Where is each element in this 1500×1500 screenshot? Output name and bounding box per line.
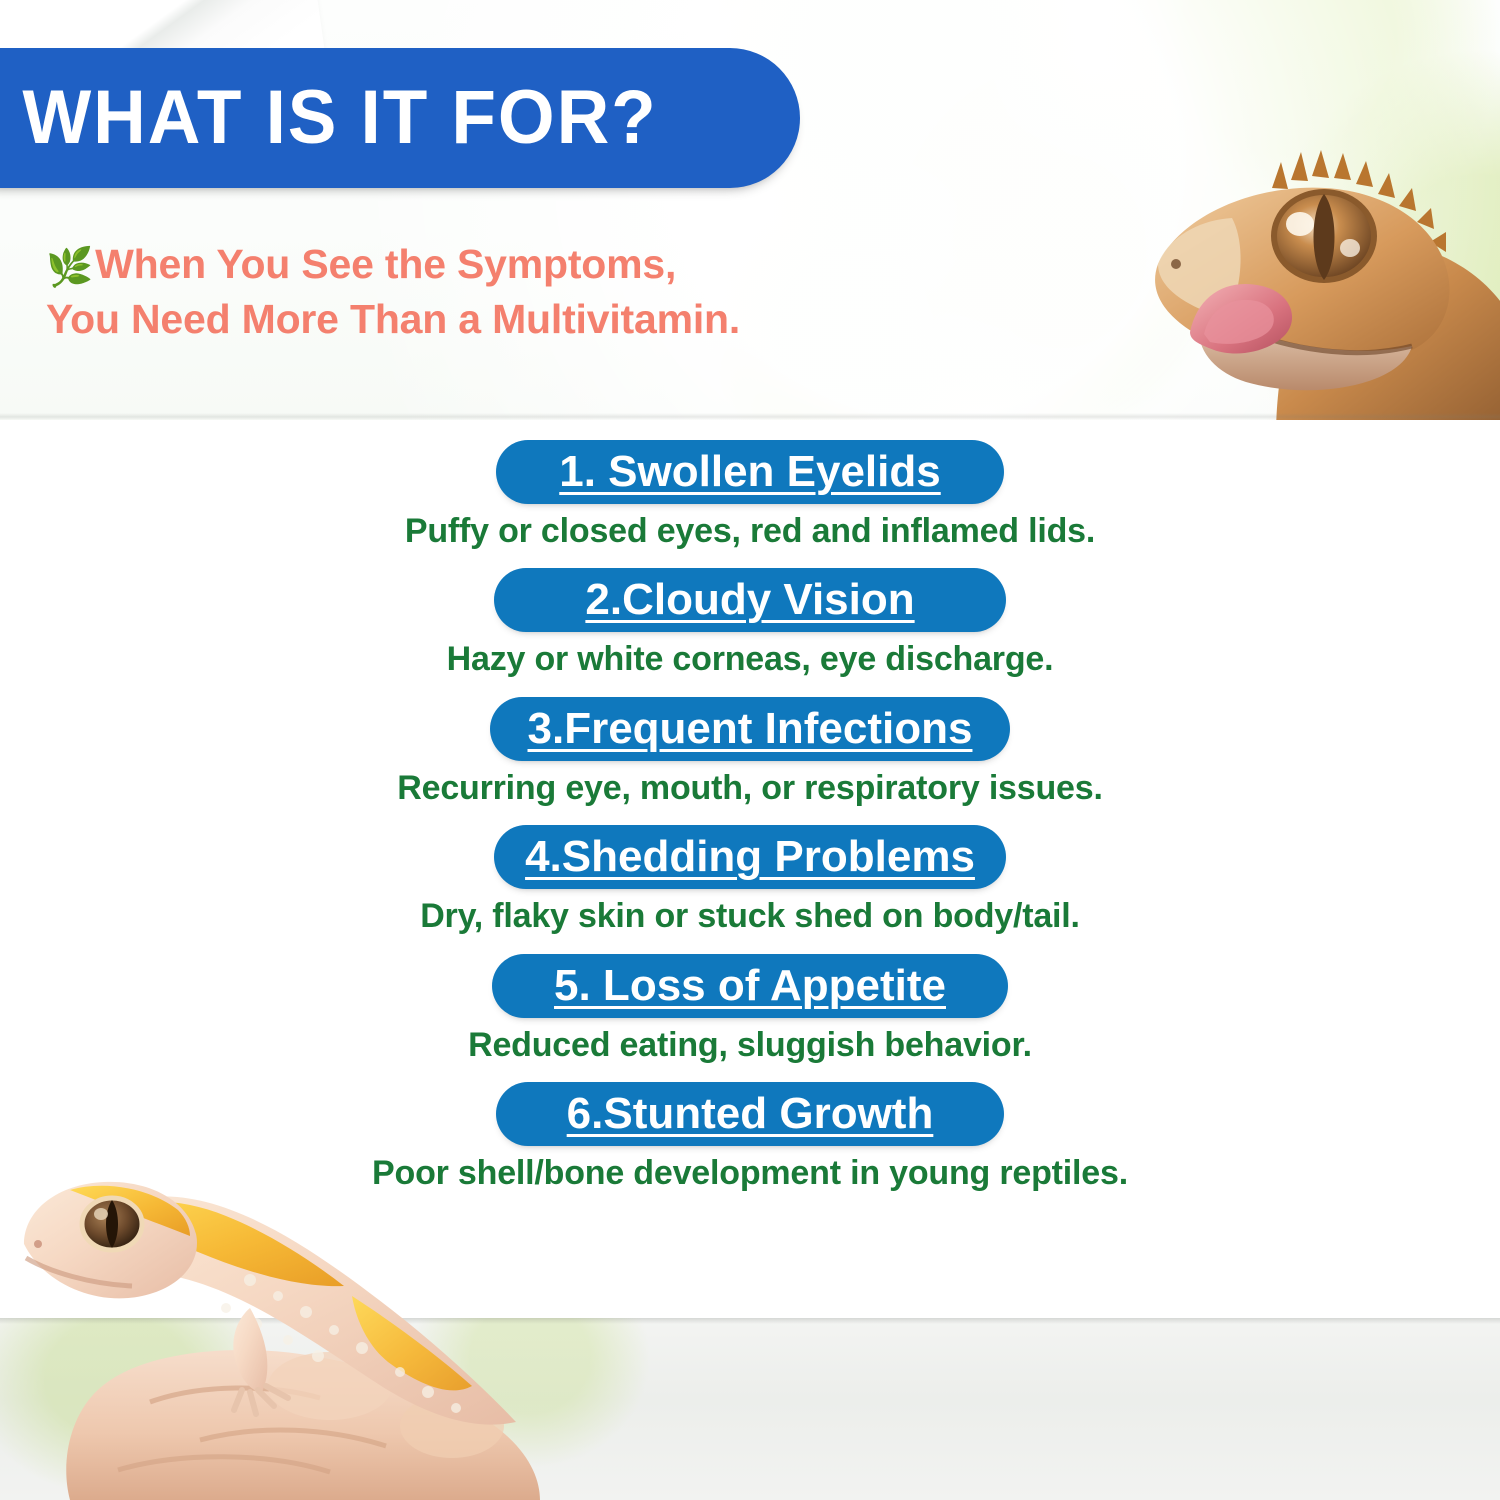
- symptom-item: 4.Shedding Problems Dry, flaky skin or s…: [0, 825, 1500, 935]
- symptom-description-3: Recurring eye, mouth, or respiratory iss…: [0, 770, 1500, 807]
- symptom-description-2: Hazy or white corneas, eye discharge.: [0, 641, 1500, 678]
- subtitle-line-1: When You See the Symptoms,: [95, 241, 676, 287]
- symptom-item: 5. Loss of Appetite Reduced eating, slug…: [0, 954, 1500, 1064]
- symptom-pill-5[interactable]: 5. Loss of Appetite: [492, 954, 1008, 1018]
- symptom-pill-1[interactable]: 1. Swollen Eyelids: [496, 440, 1004, 504]
- symptom-title-3: 3.Frequent Infections: [494, 707, 1007, 751]
- symptom-item: 3.Frequent Infections Recurring eye, mou…: [0, 697, 1500, 807]
- symptom-description-4: Dry, flaky skin or stuck shed on body/ta…: [0, 898, 1500, 935]
- symptom-pill-2[interactable]: 2.Cloudy Vision: [494, 568, 1006, 632]
- symptom-title-4: 4.Shedding Problems: [491, 835, 1009, 879]
- symptom-pill-6[interactable]: 6.Stunted Growth: [496, 1082, 1004, 1146]
- symptom-pill-4[interactable]: 4.Shedding Problems: [494, 825, 1006, 889]
- symptom-item: 2.Cloudy Vision Hazy or white corneas, e…: [0, 568, 1500, 678]
- symptom-title-6: 6.Stunted Growth: [533, 1092, 968, 1136]
- page-title-banner: WHAT IS IT FOR?: [0, 48, 800, 188]
- symptom-title-5: 5. Loss of Appetite: [520, 964, 980, 1008]
- symptom-description-1: Puffy or closed eyes, red and inflamed l…: [0, 513, 1500, 550]
- page-title: WHAT IS IT FOR?: [0, 80, 658, 156]
- subtitle-block: 🌿When You See the Symptoms, You Need Mor…: [46, 238, 876, 345]
- symptom-pill-3[interactable]: 3.Frequent Infections: [490, 697, 1010, 761]
- leaf-icon: 🌿: [46, 247, 93, 289]
- symptom-title-1: 1. Swollen Eyelids: [525, 450, 974, 494]
- infographic-page: WHAT IS IT FOR? 🌿When You See the Sympto…: [0, 0, 1500, 1500]
- leopard-gecko-image: [0, 1140, 620, 1500]
- symptom-item: 1. Swollen Eyelids Puffy or closed eyes,…: [0, 440, 1500, 550]
- symptom-title-2: 2.Cloudy Vision: [551, 578, 948, 622]
- header-banner-section: WHAT IS IT FOR? 🌿When You See the Sympto…: [0, 0, 1500, 420]
- subtitle-line-2: You Need More Than a Multivitamin.: [46, 296, 740, 342]
- symptom-list: 1. Swollen Eyelids Puffy or closed eyes,…: [0, 440, 1500, 1210]
- crested-gecko-image: [1080, 0, 1500, 420]
- symptom-description-5: Reduced eating, sluggish behavior.: [0, 1027, 1500, 1064]
